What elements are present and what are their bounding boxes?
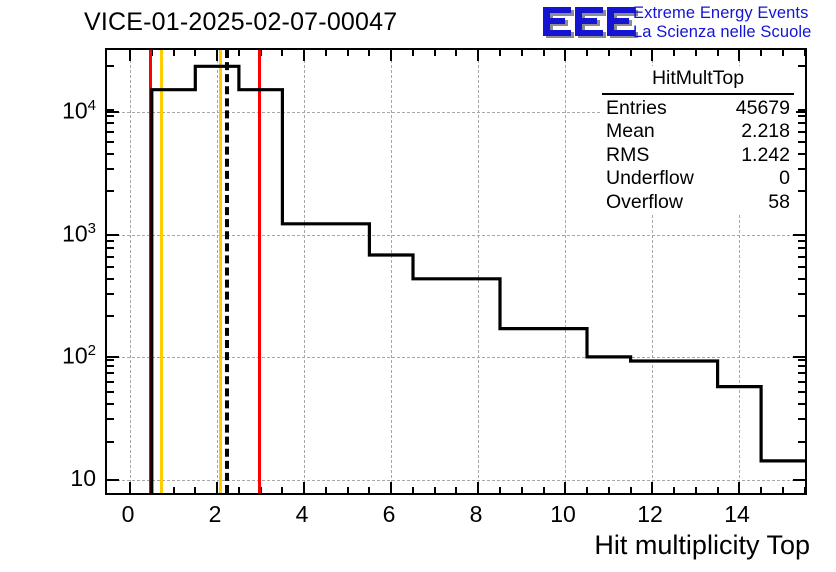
x-tick-label-6: 6	[369, 501, 409, 528]
eee-logo: Extreme Energy Events La Scienza nelle S…	[541, 3, 833, 43]
stats-row-overflow: Overflow 58	[600, 191, 796, 215]
stats-row-underflow: Underflow 0	[600, 167, 796, 191]
stats-key-overflow: Overflow	[606, 191, 683, 215]
stats-row-rms: RMS 1.242	[600, 144, 796, 168]
x-tick-label-12: 12	[630, 501, 670, 528]
stats-divider	[602, 93, 794, 95]
stats-key-entries: Entries	[606, 97, 667, 121]
stats-value-overflow: 58	[768, 191, 790, 215]
y-tick-label-100: 102	[28, 342, 96, 370]
stats-value-underflow: 0	[779, 167, 790, 191]
stats-row-entries: Entries 45679	[600, 97, 796, 121]
plot-canvas: VICE-01-2025-02-07-00047 Extreme Energy …	[0, 0, 836, 572]
stats-title: HitMultTop	[600, 66, 796, 93]
stats-value-entries: 45679	[736, 97, 790, 121]
eee-mark-icon	[541, 5, 641, 41]
stats-value-rms: 1.242	[741, 144, 790, 168]
x-tick-label-4: 4	[282, 501, 322, 528]
eee-logo-line2: La Scienza nelle Scuole	[633, 23, 811, 42]
y-tick-label-1000: 103	[28, 220, 96, 248]
x-tick-label-14: 14	[717, 501, 757, 528]
x-tick-label-10: 10	[543, 501, 583, 528]
page-title: VICE-01-2025-02-07-00047	[84, 8, 397, 37]
stats-box: HitMultTop Entries 45679 Mean 2.218 RMS …	[600, 66, 796, 214]
y-tick-label-10: 10	[28, 465, 96, 492]
y-tick-label-10000: 104	[28, 97, 96, 125]
x-tick-label-0: 0	[108, 501, 148, 528]
x-axis-title: Hit multiplicity Top	[594, 530, 810, 561]
stats-key-mean: Mean	[606, 120, 655, 144]
eee-logo-line1: Extreme Energy Events	[633, 4, 811, 23]
x-tick-label-8: 8	[456, 501, 496, 528]
stats-key-rms: RMS	[606, 144, 649, 168]
stats-row-mean: Mean 2.218	[600, 120, 796, 144]
x-tick-label-2: 2	[195, 501, 235, 528]
stats-key-underflow: Underflow	[606, 167, 694, 191]
stats-value-mean: 2.218	[741, 120, 790, 144]
eee-logo-text: Extreme Energy Events La Scienza nelle S…	[633, 4, 811, 42]
